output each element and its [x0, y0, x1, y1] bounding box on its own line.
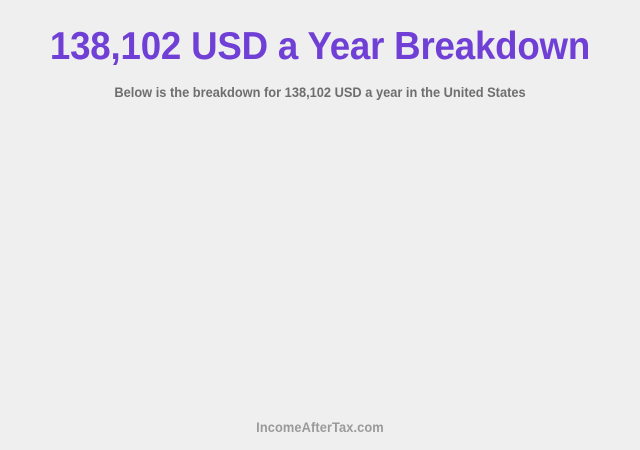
site-watermark: IncomeAfterTax.com — [16, 420, 624, 436]
breakdown-page: 138,102 USD a Year Breakdown Below is th… — [0, 0, 640, 450]
page-title: 138,102 USD a Year Breakdown — [19, 24, 621, 70]
page-subtitle: Below is the breakdown for 138,102 USD a… — [16, 84, 624, 101]
chart-area — [0, 112, 640, 410]
